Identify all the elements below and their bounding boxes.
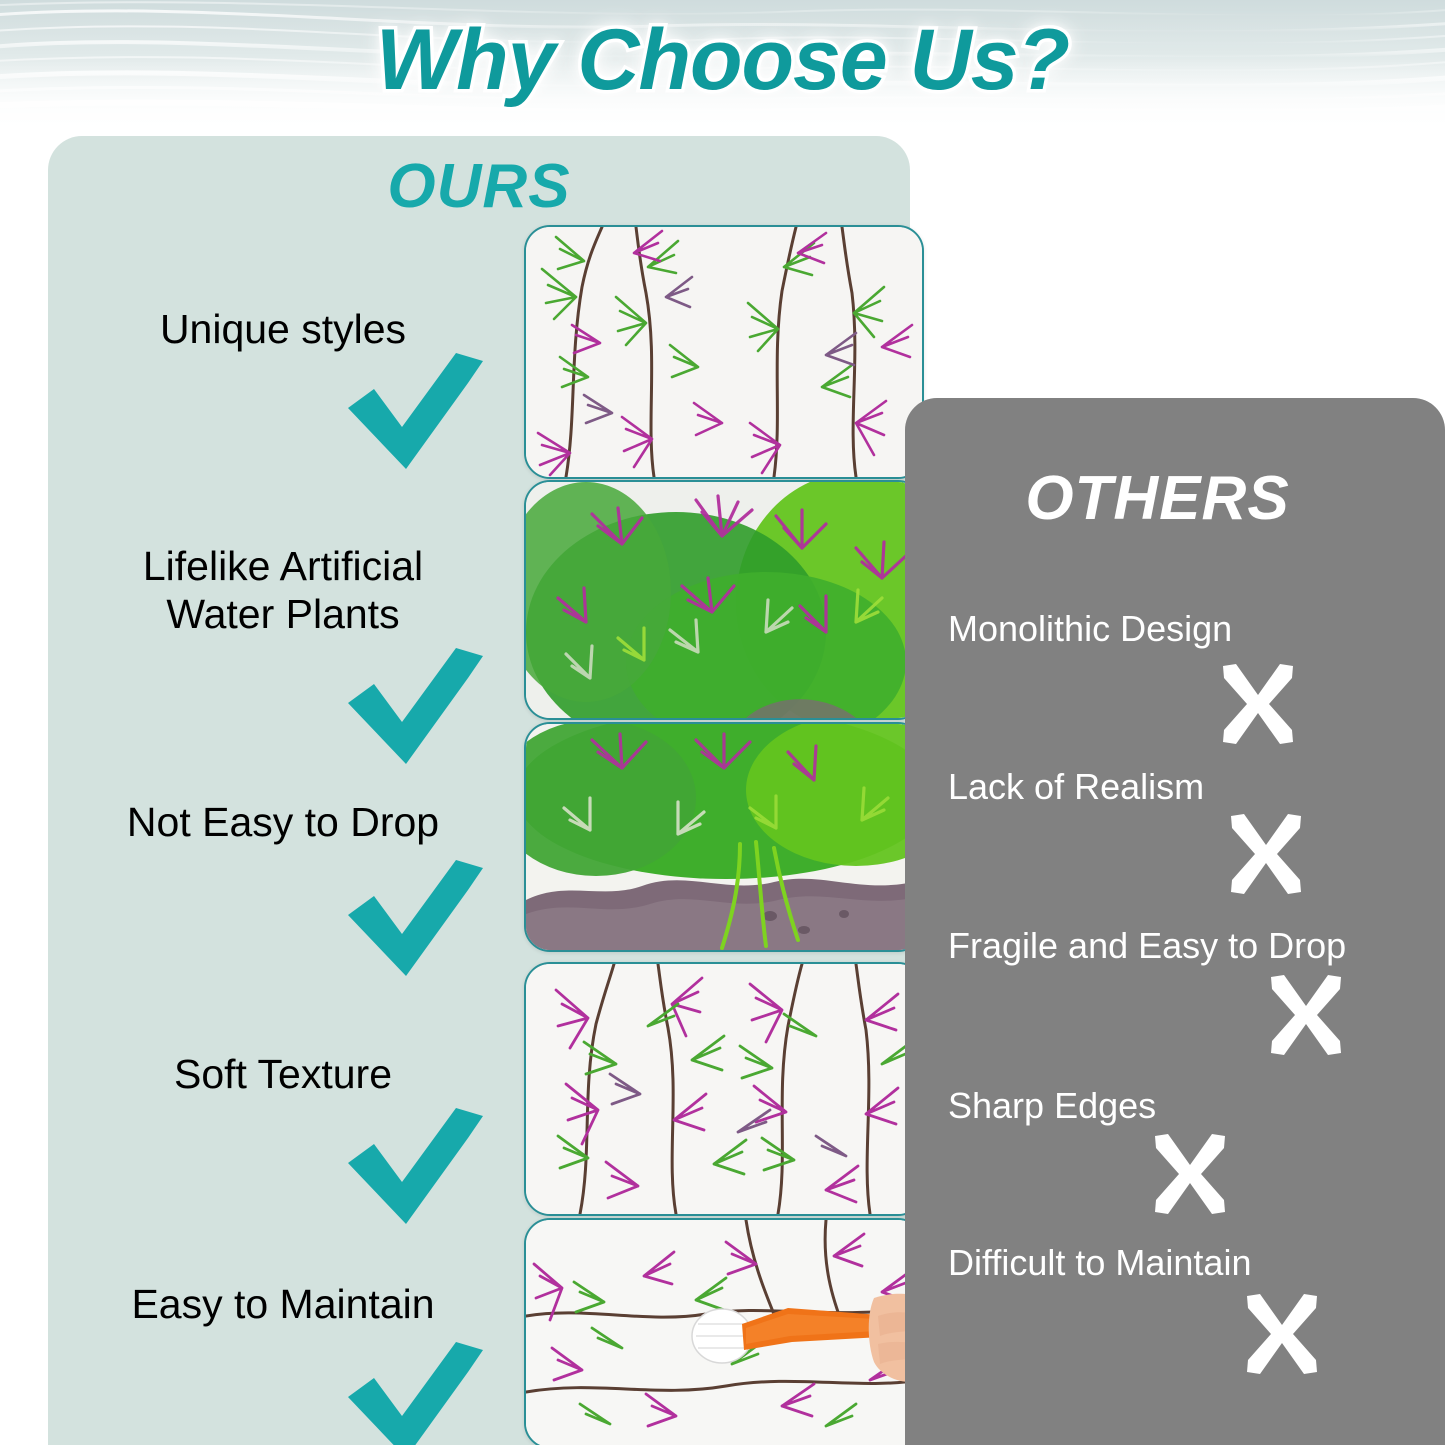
ours-photo-1 (524, 225, 924, 479)
ours-item-label-2: Lifelike Artificial Water Plants (78, 542, 488, 638)
plants-photo-4 (526, 964, 922, 1214)
comparison-infographic: Why Choose Us? OURS Unique styles (0, 0, 1445, 1445)
plants-photo-3 (526, 724, 922, 950)
plants-photo-1 (526, 227, 922, 477)
cross-mark-glyph (1216, 662, 1300, 746)
ours-heading: OURS (48, 150, 910, 224)
others-item-label-2: Lack of Realism (948, 766, 1204, 808)
cross-mark-icon (1264, 973, 1348, 1057)
ours-row-1: Unique styles (48, 225, 910, 475)
cross-mark-glyph (1240, 1292, 1324, 1376)
plants-photo-2 (526, 482, 922, 718)
ours-item-label-4: Soft Texture (78, 1050, 488, 1098)
check-mark-glyph (344, 1108, 484, 1228)
check-mark-icon (344, 1342, 484, 1445)
others-panel (905, 398, 1445, 1445)
cross-mark-glyph (1264, 973, 1348, 1057)
others-item-label-3: Fragile and Easy to Drop (948, 925, 1346, 967)
page-title: Why Choose Us? (0, 8, 1445, 112)
ours-photo-3 (524, 722, 924, 952)
check-mark-icon (344, 1108, 484, 1228)
cross-mark-glyph (1148, 1132, 1232, 1216)
ours-item-label-2-line2: Water Plants (166, 591, 399, 637)
ours-row-3: Not Easy to Drop (48, 722, 910, 948)
cross-mark-icon (1216, 662, 1300, 746)
ours-row-4: Soft Texture (48, 962, 910, 1212)
ours-row-2: Lifelike Artificial Water Plants (48, 480, 910, 716)
ours-photo-4 (524, 962, 924, 1216)
cross-mark-icon (1148, 1132, 1232, 1216)
ours-item-label-3: Not Easy to Drop (78, 798, 488, 846)
others-item-label-4: Sharp Edges (948, 1085, 1156, 1127)
others-item-label-1: Monolithic Design (948, 608, 1232, 650)
cross-mark-icon (1224, 812, 1308, 896)
ours-photo-2 (524, 480, 924, 720)
cross-mark-icon (1240, 1292, 1324, 1376)
check-mark-glyph (344, 1342, 484, 1445)
ours-item-label-1: Unique styles (78, 305, 488, 353)
ours-item-label-2-line1: Lifelike Artificial (143, 543, 423, 589)
others-heading: OTHERS (905, 462, 1410, 536)
ours-photo-5 (524, 1218, 924, 1445)
check-mark-glyph (344, 353, 484, 473)
ours-row-5: Easy to Maintain (48, 1218, 910, 1445)
cross-mark-glyph (1224, 812, 1308, 896)
plants-photo-5 (526, 1220, 922, 1445)
others-item-label-5: Difficult to Maintain (948, 1242, 1251, 1284)
check-mark-icon (344, 353, 484, 473)
ours-item-label-5: Easy to Maintain (78, 1280, 488, 1328)
